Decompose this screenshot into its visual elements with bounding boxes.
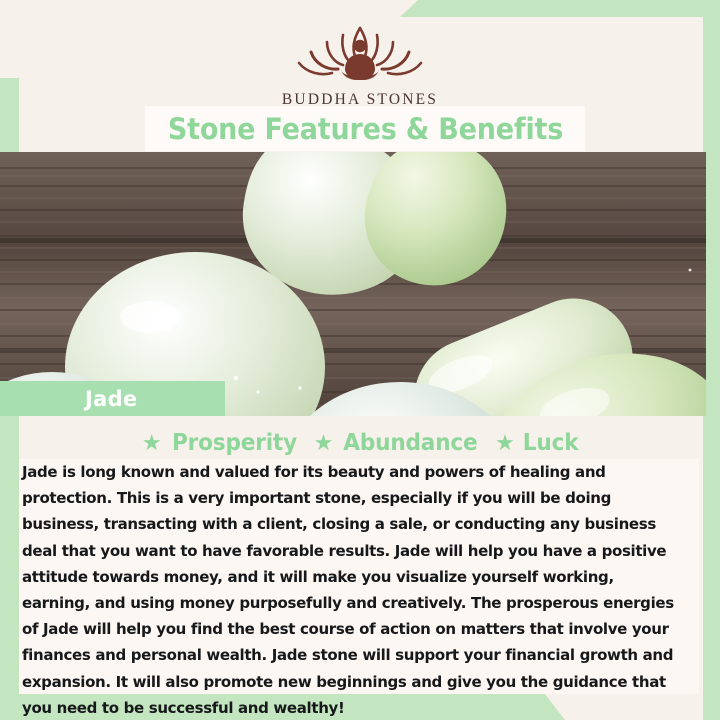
star-icon: ★ bbox=[314, 432, 334, 454]
keyword-label: Abundance bbox=[344, 430, 478, 456]
keyword-list: ★ Prosperity ★ Abundance ★ Luck bbox=[19, 430, 703, 456]
stone-name-label: Jade bbox=[85, 387, 137, 411]
description-panel: Jade is long known and valued for its be… bbox=[19, 459, 699, 694]
keyword-label: Prosperity bbox=[172, 430, 297, 456]
star-icon: ★ bbox=[495, 432, 515, 454]
keyword-item-luck: ★ Luck bbox=[495, 430, 580, 456]
stone-photo bbox=[0, 152, 706, 416]
stone-info-card: BUDDHA STONES Stone Features & Benefits bbox=[0, 0, 720, 720]
page-title: Stone Features & Benefits bbox=[167, 112, 562, 146]
keyword-item-prosperity: ★ Prosperity bbox=[142, 430, 301, 456]
lotus-meditation-logo-icon bbox=[285, 18, 435, 88]
stone-name-band: Jade bbox=[0, 381, 225, 416]
star-icon: ★ bbox=[142, 432, 162, 454]
keyword-item-abundance: ★ Abundance bbox=[314, 430, 483, 456]
brand-logo: BUDDHA STONES bbox=[0, 18, 720, 109]
decor-band-top bbox=[0, 0, 720, 17]
stone-photo-image bbox=[0, 152, 706, 416]
title-banner: Stone Features & Benefits bbox=[145, 106, 585, 151]
keyword-label: Luck bbox=[523, 430, 579, 456]
description-text: Jade is long known and valued for its be… bbox=[22, 459, 678, 720]
